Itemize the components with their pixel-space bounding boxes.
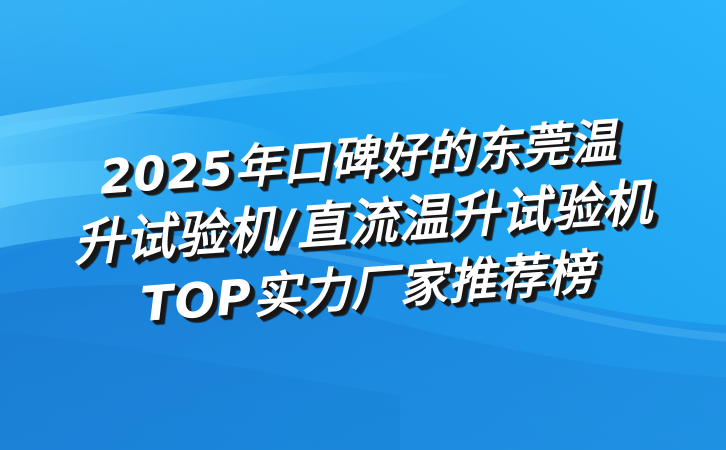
promo-banner: 2025年口碑好的东莞温 升试验机/直流温升试验机 TOP实力厂家推荐榜 bbox=[0, 0, 726, 450]
headline-block: 2025年口碑好的东莞温 升试验机/直流温升试验机 TOP实力厂家推荐榜 bbox=[0, 0, 726, 450]
